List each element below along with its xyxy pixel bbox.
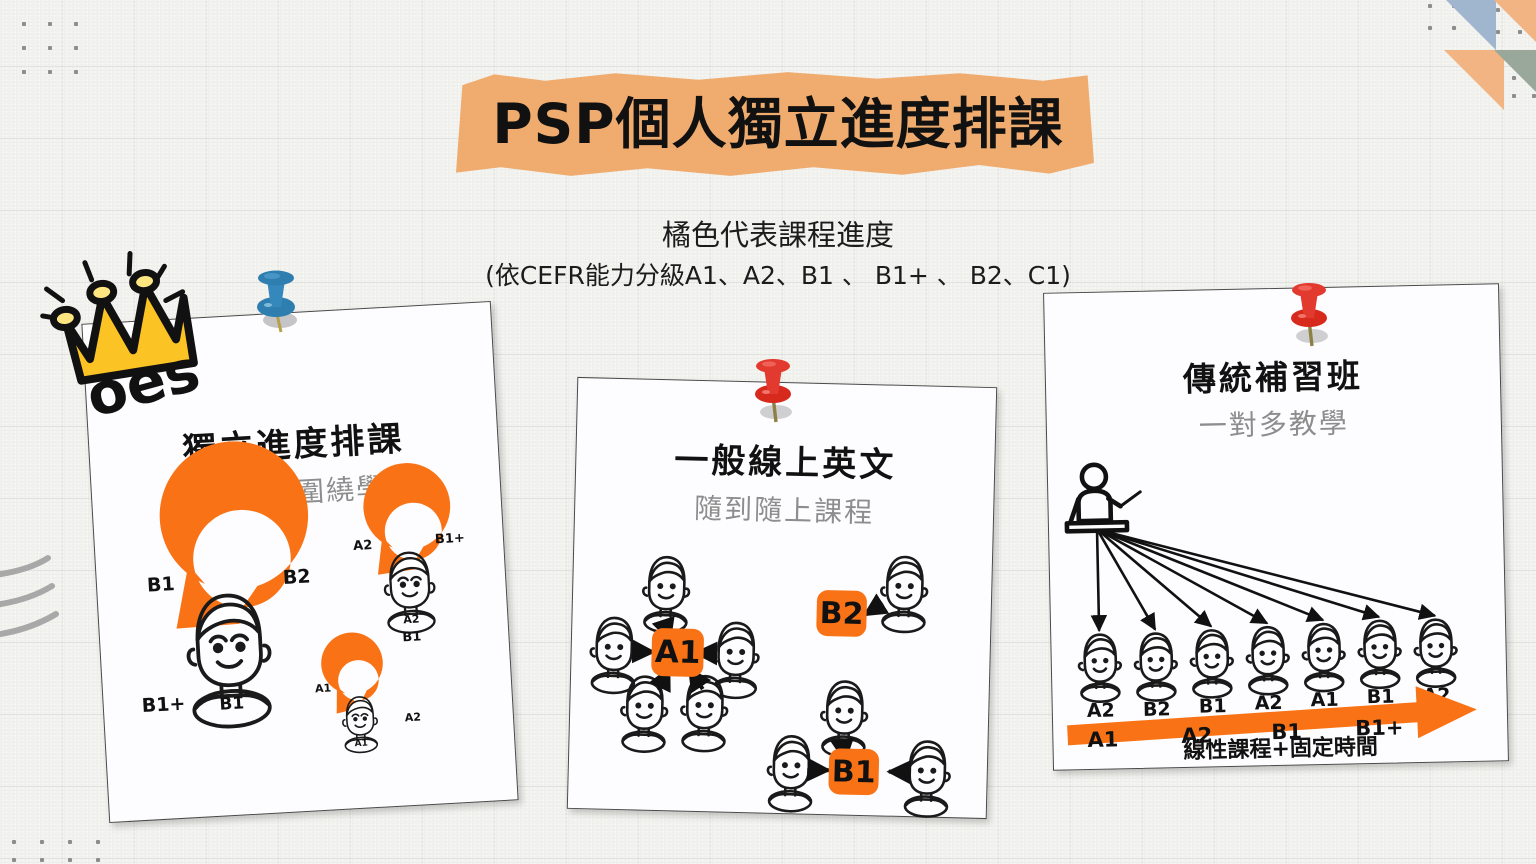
triangle-blue: [1446, 0, 1496, 50]
card-traditional-cram-school[interactable]: 傳統補習班 一對多教學: [1043, 283, 1509, 770]
card-2-subtitle: 隨到隨上課程: [575, 484, 994, 534]
blue-pushpin: [250, 258, 306, 334]
student-level-2: B1: [1199, 695, 1227, 718]
cluster-b1: B1: [767, 680, 952, 817]
loop-2-ring-label-1: B1+: [435, 531, 466, 548]
chip-b2-label: B2: [819, 596, 864, 632]
student-level-3: A2: [1254, 692, 1282, 715]
card-3-subtitle: 一對多教學: [1046, 398, 1501, 447]
triangle-green: [1494, 50, 1536, 92]
chip-b1-label: B1: [831, 754, 876, 790]
loop-1-ring-label-2: B1+: [141, 693, 186, 717]
loop-1-avatar-label: B1: [219, 693, 245, 714]
red-pushpin-card-3: [1282, 272, 1338, 348]
chip-a1-label: A1: [654, 634, 700, 671]
generic-online-diagram: A1 B2 B1: [574, 538, 990, 808]
red-pushpin-card-2: [746, 348, 802, 424]
subtitle-line-1: 橘色代表課程進度: [418, 212, 1138, 254]
cluster-b2: B2: [816, 555, 928, 639]
loop-2-ring-label-2: B1: [402, 629, 422, 645]
loop-1-ring-label-1: B2: [282, 565, 311, 589]
card-2-title: 一般線上英文: [576, 430, 995, 489]
teacher-to-student-arrows: [1097, 526, 1435, 631]
independent-pace-diagram: B1 B1 B2 B1+ A2 A2 B1+ B1 A1 A1 A2: [104, 510, 514, 812]
triangle-peach-top: [1494, 0, 1536, 42]
card-generic-online-english[interactable]: 一般線上英文 隨到隨上課程: [567, 377, 997, 819]
student-level-1: B2: [1143, 698, 1171, 721]
card-3-title: 傳統補習班: [1045, 346, 1500, 403]
loop-3-ring-label-0: A1: [315, 681, 332, 695]
student-level-0: A2: [1087, 699, 1115, 722]
loop-3-ring-label-1: A2: [405, 710, 422, 724]
teacher-at-podium: [1066, 464, 1141, 532]
page-title: PSP個人獨立進度排課: [448, 64, 1108, 184]
loop-1-ring-label-0: B1: [146, 573, 175, 597]
loop-2-ring-label-0: A2: [353, 538, 373, 554]
student-row: [1078, 619, 1457, 702]
loop-2-avatar-label: A2: [403, 612, 420, 626]
loop-3-avatar-label: A1: [354, 739, 368, 750]
cram-school-diagram: A2 B2 B1 A2 A1 B1 A2 A1 A2 B1 B1+: [1060, 450, 1498, 759]
page-header: PSP個人獨立進度排課: [448, 62, 1108, 187]
cluster-a1: A1: [588, 555, 760, 754]
brand-logo-with-crown: oes: [27, 236, 240, 424]
subtitle-line-2: (依CEFR能力分級A1、A2、B1 、 B1+ 、 B2、C1): [418, 256, 1138, 292]
dot-grid-bottom-left: [12, 840, 122, 864]
dot-grid-top-left: [22, 22, 102, 82]
